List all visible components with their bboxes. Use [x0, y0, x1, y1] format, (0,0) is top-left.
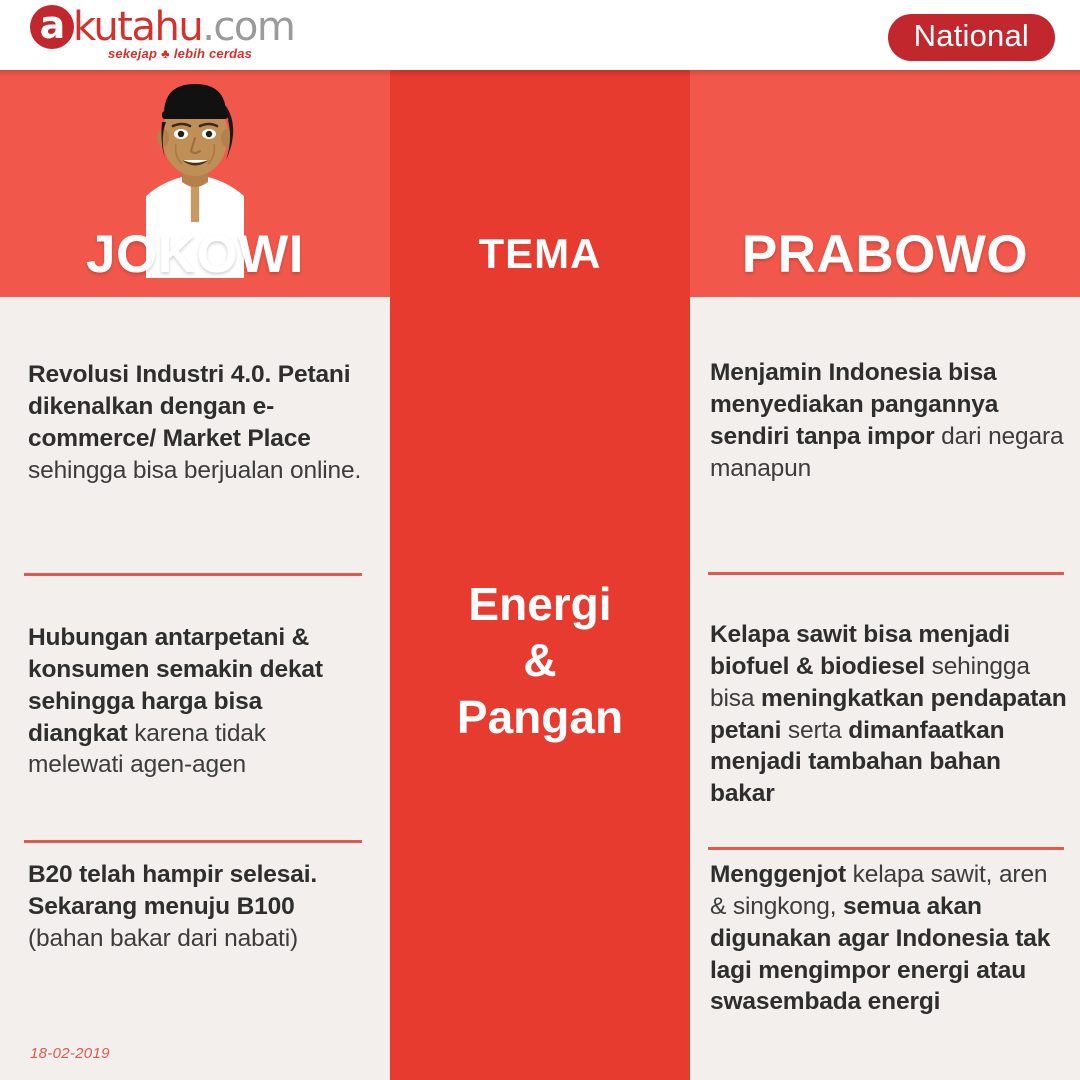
theme-text: Energi & Pangan — [390, 269, 690, 1052]
infographic-root: a kutahu .com sekejap ♣ lebih cerdas Nat… — [0, 0, 1080, 1080]
header-band-right: PRABOWO — [690, 70, 1080, 297]
category-badge-national[interactable]: National — [888, 14, 1055, 61]
prabowo-column: Menjamin Indonesia bisa menyediakan pang… — [690, 297, 1080, 1080]
tagline-right-text: lebih cerdas — [174, 46, 252, 61]
tagline-left-text: sekejap — [108, 46, 157, 61]
candidate-name-jokowi: JOKOWI — [0, 224, 390, 285]
jokowi-statement-2: Hubungan antarpetani & konsumen semakin … — [28, 622, 362, 781]
jokowi-statement-3-regular: (bahan bakar dari nabati) — [28, 925, 298, 952]
jokowi-column: Revolusi Industri 4.0. Petani dikenalkan… — [0, 297, 390, 1080]
logo-tagline: sekejap ♣ lebih cerdas — [108, 46, 252, 61]
site-logo[interactable]: a kutahu .com sekejap ♣ lebih cerdas — [30, 4, 294, 66]
band-shadow-center — [390, 70, 690, 77]
logo-wordmark: a kutahu .com — [30, 4, 294, 50]
prabowo-divider-1 — [708, 572, 1064, 575]
theme-line-1: Energi — [468, 576, 611, 632]
clover-icon: ♣ — [161, 46, 170, 61]
logo-tld-text: .com — [202, 4, 294, 50]
prabowo-statement-2-regular-2: serta — [781, 717, 848, 744]
theme-line-3: Pangan — [457, 689, 623, 745]
band-shadow-right — [690, 70, 1080, 77]
logo-brand-text: kutahu — [73, 4, 202, 50]
jokowi-divider-2 — [24, 840, 362, 843]
prabowo-statement-3-bold-1: Menggenjot — [710, 861, 846, 888]
theme-line-2: & — [523, 632, 556, 688]
candidate-name-prabowo: PRABOWO — [690, 224, 1080, 285]
jokowi-statement-1-regular: sehingga bisa berjualan online. — [28, 457, 361, 484]
jokowi-statement-1: Revolusi Industri 4.0. Petani dikenalkan… — [28, 359, 362, 486]
jokowi-divider-1 — [24, 573, 362, 576]
prabowo-statement-1: Menjamin Indonesia bisa menyediakan pang… — [710, 357, 1066, 484]
jokowi-statement-3: B20 telah hampir selesai. Sekarang menuj… — [28, 859, 362, 955]
date-stamp: 18-02-2019 — [30, 1045, 110, 1062]
header-band-left: JOKOWI — [0, 70, 390, 297]
center-theme-column: Energi & Pangan — [390, 297, 690, 1080]
logo-circle-a: a — [30, 5, 74, 49]
band-shadow-left — [0, 70, 390, 77]
jokowi-statement-3-bold: B20 telah hampir selesai. Sekarang menuj… — [28, 861, 317, 920]
header-band: JOKOWI TEMA — [0, 70, 1080, 297]
prabowo-statement-2: Kelapa sawit bisa menjadi biofuel & biod… — [710, 619, 1070, 810]
prabowo-statement-3: Menggenjot kelapa sawit, aren & singkong… — [710, 859, 1066, 1018]
jokowi-statement-1-bold: Revolusi Industri 4.0. Petani dikenalkan… — [28, 361, 350, 452]
top-bar: a kutahu .com sekejap ♣ lebih cerdas Nat… — [0, 0, 1080, 70]
prabowo-divider-2 — [708, 847, 1064, 850]
